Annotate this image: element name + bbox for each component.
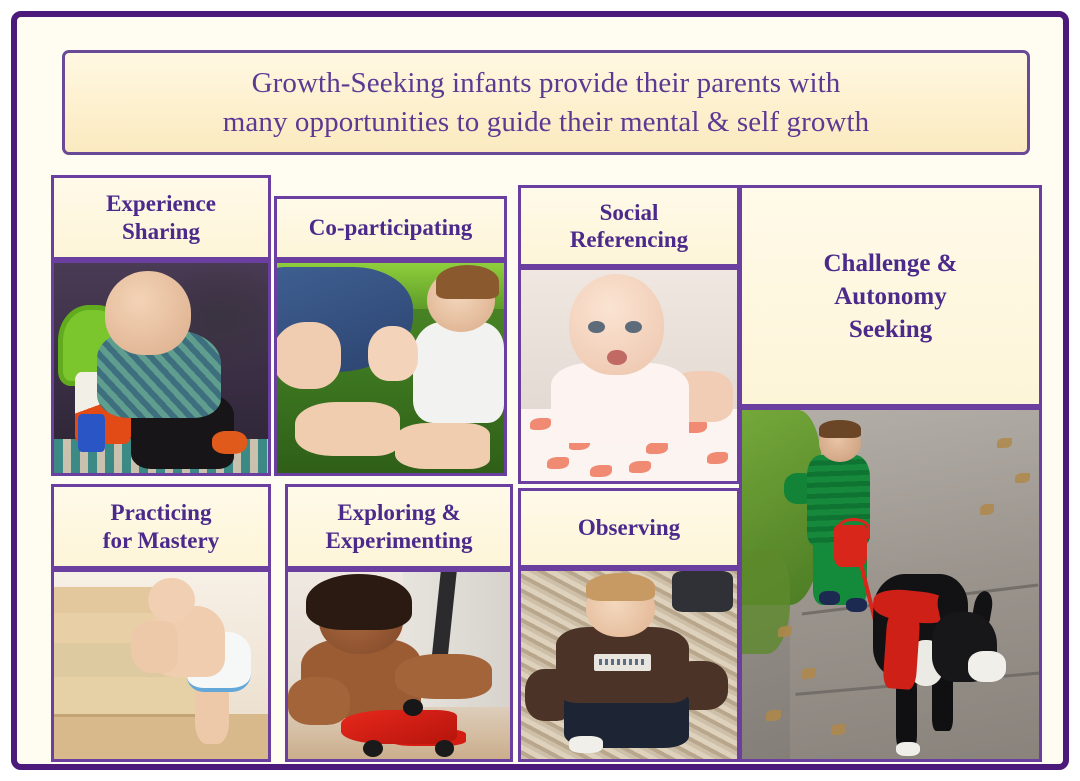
photo-exploring-experimenting xyxy=(285,569,513,762)
label-challenge-autonomy-seeking[interactable]: Challenge & Autonomy Seeking xyxy=(739,185,1042,407)
slide-frame: Growth-Seeking infants provide their par… xyxy=(11,11,1069,770)
slide-title-banner: Growth-Seeking infants provide their par… xyxy=(62,50,1030,155)
page-title: Growth-Seeking infants provide their par… xyxy=(209,64,884,141)
label-text: ExperienceSharing xyxy=(94,190,228,244)
label-text: Exploring &Experimenting xyxy=(314,499,485,553)
photo-practicing-for-mastery xyxy=(51,569,271,762)
label-experience-sharing[interactable]: ExperienceSharing xyxy=(51,175,271,260)
label-text: Co-participating xyxy=(303,214,479,241)
photo-challenge-autonomy-seeking xyxy=(739,407,1042,762)
label-text: Challenge & Autonomy Seeking xyxy=(811,247,969,346)
label-text: Observing xyxy=(572,514,686,541)
label-co-participating[interactable]: Co-participating xyxy=(274,196,507,260)
label-exploring-experimenting[interactable]: Exploring &Experimenting xyxy=(285,484,513,569)
photo-experience-sharing xyxy=(51,260,271,476)
label-observing[interactable]: Observing xyxy=(518,488,740,568)
photo-observing xyxy=(518,568,740,762)
photo-social-referencing xyxy=(518,267,740,484)
title-line-1: Growth-Seeking infants provide their par… xyxy=(209,64,884,103)
photo-co-participating xyxy=(274,260,507,476)
label-text: SocialReferencing xyxy=(558,199,700,253)
label-practicing-for-mastery[interactable]: Practicingfor Mastery xyxy=(51,484,271,569)
label-text: Practicingfor Mastery xyxy=(91,499,231,553)
label-social-referencing[interactable]: SocialReferencing xyxy=(518,185,740,267)
title-line-2: many opportunities to guide their mental… xyxy=(209,103,884,142)
